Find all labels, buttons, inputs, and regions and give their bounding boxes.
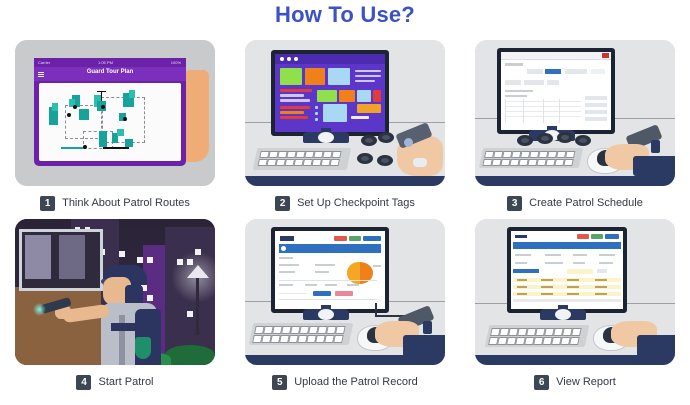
step-3-caption: 3 Create Patrol Schedule [507,193,643,213]
checkpoint-tag [361,135,377,146]
schedule-software-window [501,52,611,130]
hamburger-icon[interactable] [38,76,44,77]
keyboard [485,325,590,347]
step-4-illustration [15,219,215,365]
page-title: How To Use? [0,2,690,28]
tablet-status-bar: Carrier 1:05 PM 100% [34,58,186,67]
upload-button[interactable] [313,291,331,296]
step-6-illustration [475,219,675,365]
step-4-label: Start Patrol [98,376,153,388]
status-time: 1:05 PM [98,60,113,65]
step-1-label: Think About Patrol Routes [62,197,190,209]
keyboard [249,323,354,345]
keyboard [253,148,352,170]
checkpoint-tag [378,132,394,143]
step-1-caption: 1 Think About Patrol Routes [40,193,190,213]
step-1-illustration: Carrier 1:05 PM 100% Guard Tour Plan [15,40,215,186]
how-to-use-infographic: How To Use? Carrier 1:05 PM 100% [0,0,690,405]
scan-beam [33,303,46,316]
tablet-device: Carrier 1:05 PM 100% Guard Tour Plan [34,58,186,166]
close-icon[interactable] [602,53,609,58]
step-2-number: 2 [275,196,290,211]
status-battery: 100% [171,60,181,65]
steps-row-1: Carrier 1:05 PM 100% Guard Tour Plan [0,40,690,213]
step-3-label: Create Patrol Schedule [529,197,643,209]
checkpoint-tag [537,133,553,144]
step-4-number: 4 [76,375,91,390]
step-6-caption: 6 View Report [534,372,616,392]
keyboard [479,148,583,168]
checkpoint-tag [517,135,533,146]
report-window [511,231,623,309]
building-wall [15,287,101,365]
step-2-label: Set Up Checkpoint Tags [297,197,415,209]
step-5-caption: 5 Upload the Patrol Record [272,372,418,392]
step-2-caption: 2 Set Up Checkpoint Tags [275,193,415,213]
guard-badge [135,337,151,359]
step-3-number: 3 [507,196,522,211]
status-carrier: Carrier [38,60,50,65]
step-card-3[interactable]: 3 Create Patrol Schedule [460,40,690,213]
step-card-4[interactable]: 4 Start Patrol [0,219,230,392]
checkpoint-tag [557,132,573,143]
tablet-app-title: Guard Tour Plan [34,69,186,75]
monitor-screen [507,227,627,313]
step-5-label: Upload the Patrol Record [294,376,418,388]
step-4-caption: 4 Start Patrol [76,372,153,392]
checkpoint-tag [357,153,373,164]
step-2-illustration [245,40,445,186]
checkpoint-tag [575,135,591,146]
steps-row-2: 4 Start Patrol [0,219,690,392]
checkpoint-tag [377,155,393,166]
step-card-5[interactable]: 5 Upload the Patrol Record [230,219,460,392]
step-card-6[interactable]: 6 View Report [460,219,690,392]
step-5-illustration [245,219,445,365]
step-5-number: 5 [272,375,287,390]
monitor-screen [271,50,389,136]
step-3-illustration [475,40,675,186]
step-6-number: 6 [534,375,549,390]
step-1-number: 1 [40,196,55,211]
monitor-screen [497,48,615,134]
step-6-label: View Report [556,376,616,388]
step-card-1[interactable]: Carrier 1:05 PM 100% Guard Tour Plan [0,40,230,213]
upload-software-window [275,231,385,309]
patrol-route-map [39,83,181,161]
cancel-button[interactable] [335,291,353,296]
step-card-2[interactable]: 2 Set Up Checkpoint Tags [230,40,460,213]
monitor-screen [271,227,389,313]
steps-grid: Carrier 1:05 PM 100% Guard Tour Plan [0,40,690,392]
